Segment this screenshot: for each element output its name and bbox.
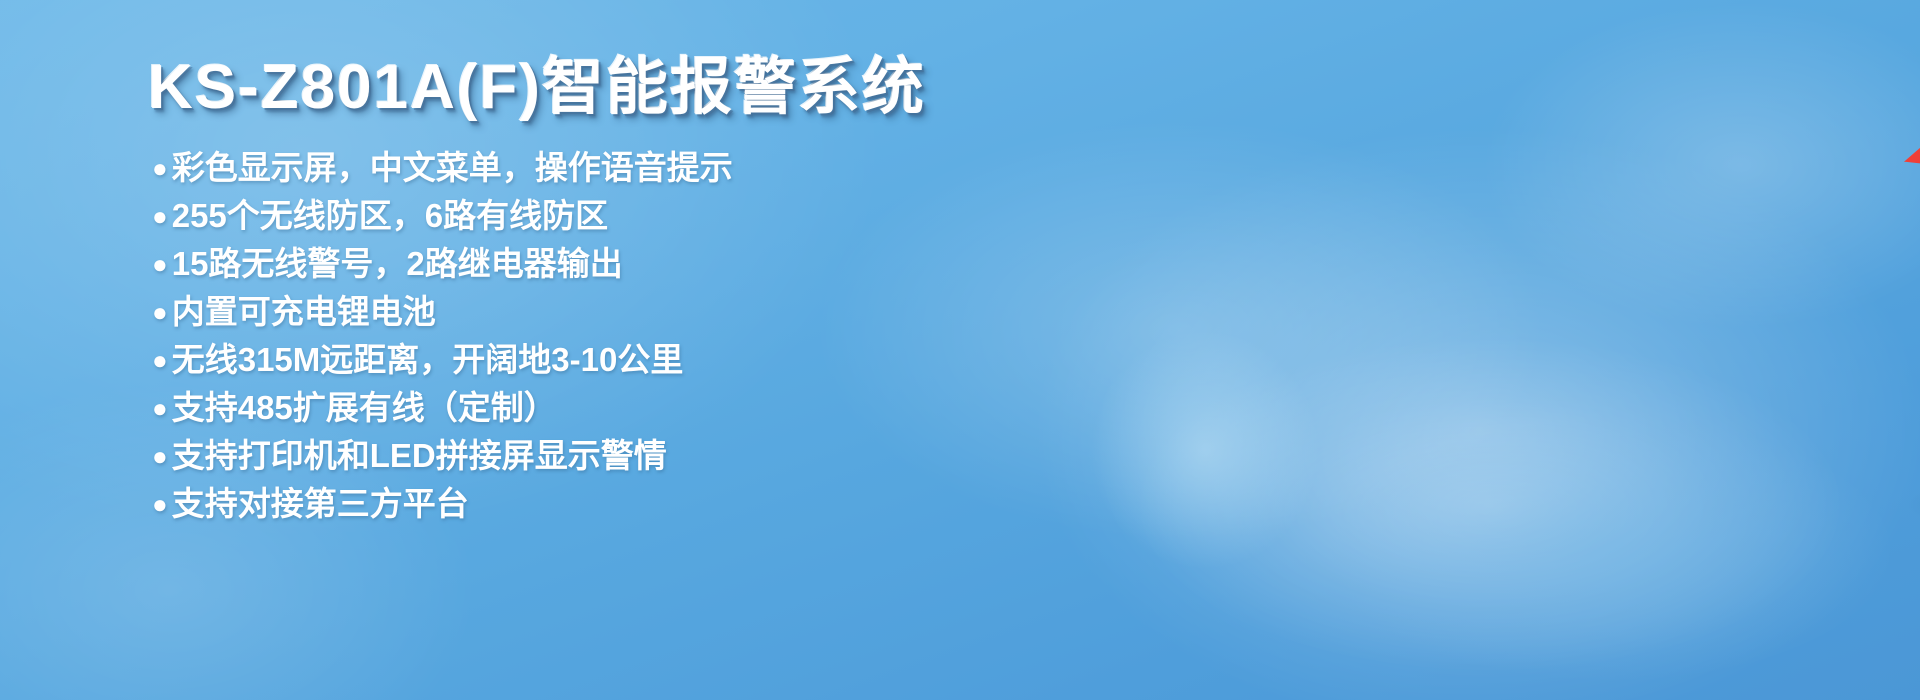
list-item: ● 15路无线警号，2路继电器输出	[152, 240, 968, 288]
product-banner: KS-Z801A(F)智能报警系统 ● 彩色显示屏，中文菜单，操作语音提示 ● …	[0, 0, 1920, 700]
feature-text: 15路无线警号，2路继电器输出	[172, 240, 623, 288]
feature-text: 彩色显示屏，中文菜单，操作语音提示	[172, 144, 733, 192]
feature-list: ● 彩色显示屏，中文菜单，操作语音提示 ● 255个无线防区，6路有线防区 ● …	[152, 144, 968, 528]
feature-text: 内置可充电锂电池	[172, 288, 436, 336]
device-shadow	[1905, 470, 1920, 540]
list-item: ● 255个无线防区，6路有线防区	[152, 192, 968, 240]
copy-block: KS-Z801A(F)智能报警系统 ● 彩色显示屏，中文菜单，操作语音提示 ● …	[148, 52, 968, 544]
feature-text: 支持打印机和LED拼接屏显示警情	[172, 432, 667, 480]
device-top-left	[1904, 110, 1920, 184]
bullet-icon: ●	[152, 336, 168, 384]
list-item: ● 支持对接第三方平台	[152, 480, 968, 528]
bullet-icon: ●	[152, 288, 168, 336]
page-title: KS-Z801A(F)智能报警系统	[148, 52, 968, 124]
list-item: ● 无线315M远距离，开阔地3-10公里	[152, 336, 968, 384]
list-item: ● 彩色显示屏，中文菜单，操作语音提示	[152, 144, 968, 192]
feature-text: 支持对接第三方平台	[172, 480, 469, 528]
bullet-icon: ●	[152, 192, 168, 240]
bullet-icon: ●	[152, 480, 168, 528]
bullet-icon: ●	[152, 432, 168, 480]
bullet-icon: ●	[152, 240, 168, 288]
bullet-icon: ●	[152, 384, 168, 432]
bullet-icon: ●	[152, 144, 168, 192]
list-item: ● 支持打印机和LED拼接屏显示警情	[152, 432, 968, 480]
feature-text: 无线315M远距离，开阔地3-10公里	[172, 336, 684, 384]
feature-text: 支持485扩展有线（定制）	[172, 384, 557, 432]
list-item: ● 内置可充电锂电池	[152, 288, 968, 336]
product-image: ▼ ▮ 22:27 01-01-01 系统正常 电源 布防 故障 通讯 报警 1…	[940, 0, 1920, 700]
feature-text: 255个无线防区，6路有线防区	[172, 192, 608, 240]
list-item: ● 支持485扩展有线（定制）	[152, 384, 968, 432]
